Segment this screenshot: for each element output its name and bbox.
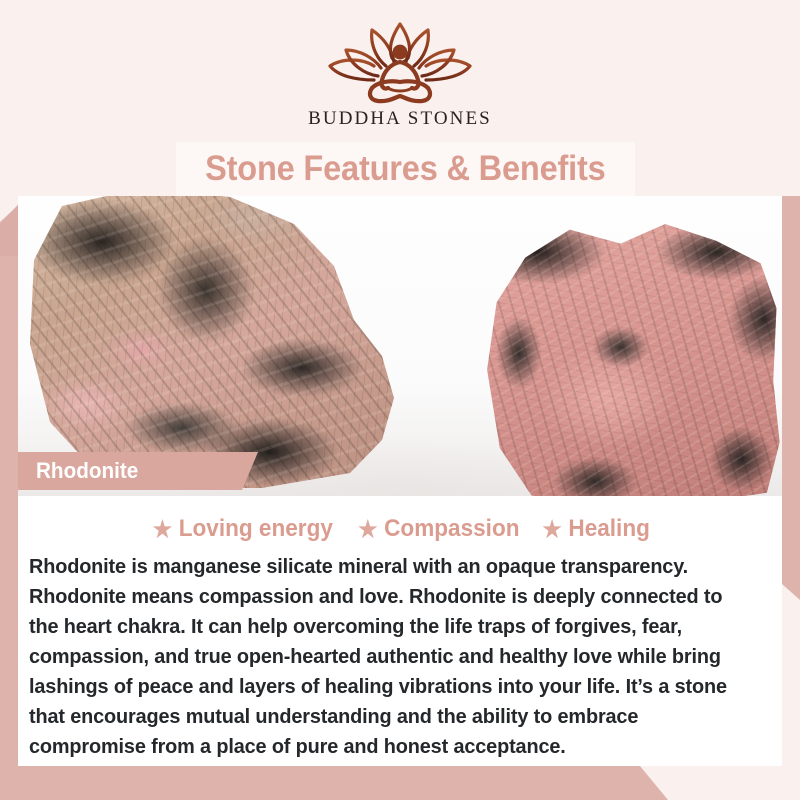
- keyword-item: ★ Healing: [542, 515, 649, 543]
- frame-bottom-accent: [0, 766, 800, 800]
- keyword-label: Compassion: [384, 515, 519, 543]
- keyword-item: ★ Loving energy: [153, 515, 333, 543]
- brand-logo: BUDDHA STONES: [0, 18, 800, 130]
- stone-name-ribbon: Rhodonite: [18, 452, 258, 490]
- page-title: Stone Features & Benefits: [205, 149, 606, 189]
- infographic-page: BUDDHA STONES Stone Features & Benefits …: [0, 0, 800, 800]
- brand-name: BUDDHA STONES: [308, 108, 492, 130]
- star-icon: ★: [153, 518, 172, 541]
- keyword-label: Healing: [568, 515, 649, 543]
- keyword-item: ★ Compassion: [358, 515, 519, 543]
- title-banner: Stone Features & Benefits: [176, 142, 635, 196]
- stone-name-label: Rhodonite: [36, 458, 138, 484]
- description-text: Rhodonite is manganese silicate mineral …: [29, 552, 746, 762]
- star-icon: ★: [358, 518, 377, 541]
- keyword-label: Loving energy: [179, 515, 333, 543]
- star-icon: ★: [542, 518, 561, 541]
- keyword-row: ★ Loving energy ★ Compassion ★ Healing: [18, 496, 782, 543]
- lotus-meditation-icon: [316, 18, 484, 104]
- description-card: ★ Loving energy ★ Compassion ★ Healing R…: [18, 496, 782, 766]
- stone-photo: [18, 196, 782, 496]
